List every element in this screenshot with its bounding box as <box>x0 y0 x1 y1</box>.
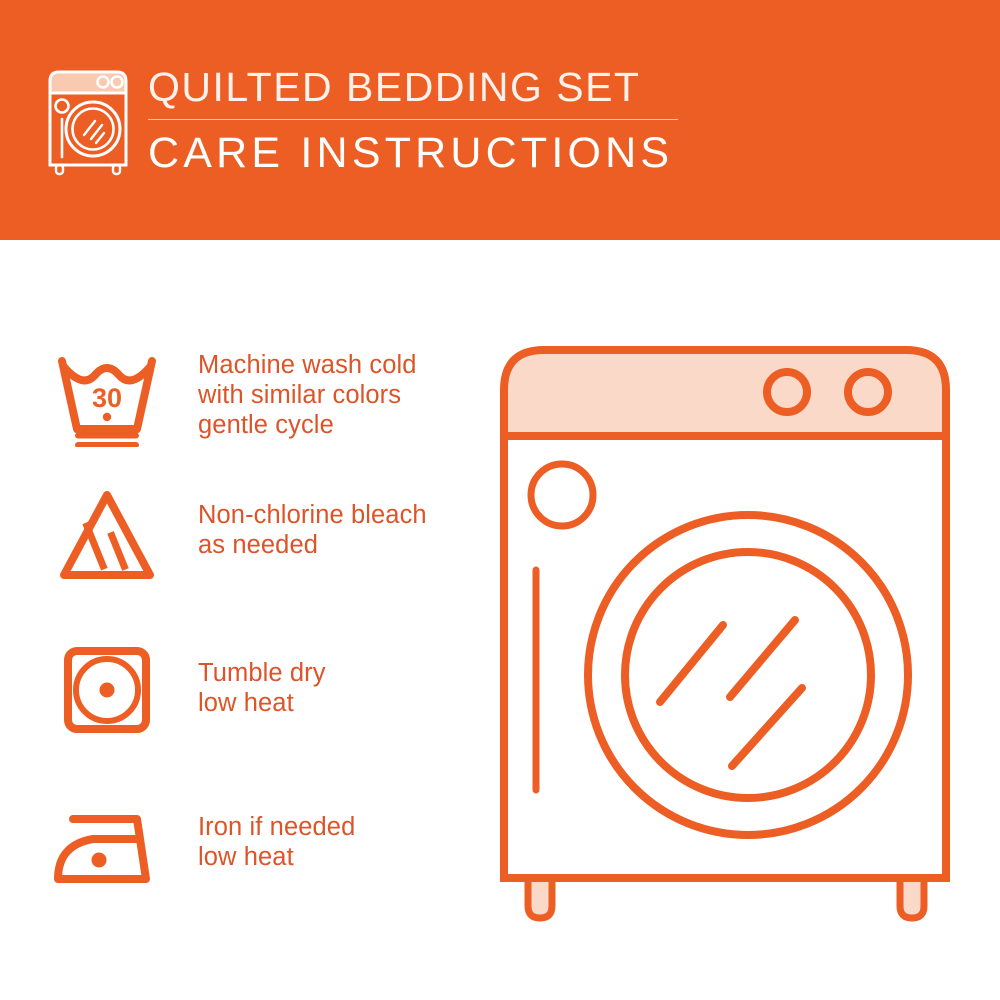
care-row: Tumble dry low heat <box>48 638 326 748</box>
page-subtitle: CARE INSTRUCTIONS <box>148 129 678 177</box>
care-instruction-list: 30 Machine wash cold with similar colors… <box>0 240 480 1000</box>
header-content: QUILTED BEDDING SET CARE INSTRUCTIONS <box>42 62 678 177</box>
care-row: Non-chlorine bleach as needed <box>48 480 427 590</box>
care-row-label: Non-chlorine bleach as needed <box>166 480 427 560</box>
header-title-group: QUILTED BEDDING SET CARE INSTRUCTIONS <box>148 62 678 177</box>
wash-temperature-value: 30 <box>92 383 122 413</box>
care-row-label: Iron if needed low heat <box>166 792 355 872</box>
iron-icon <box>48 792 166 902</box>
tumble-dry-square-icon <box>48 638 166 748</box>
care-row-label: Machine wash cold with similar colors ge… <box>166 342 417 440</box>
machine-control-panel <box>504 350 946 436</box>
front-loading-washing-machine-illustration <box>490 320 990 950</box>
machine-wash-tub-icon: 30 <box>48 342 166 452</box>
care-row: Iron if needed low heat <box>48 792 355 902</box>
care-instructions-infographic: QUILTED BEDDING SET CARE INSTRUCTIONS 30 <box>0 0 1000 1000</box>
header-banner: QUILTED BEDDING SET CARE INSTRUCTIONS <box>0 0 1000 240</box>
care-row-label: Tumble dry low heat <box>166 638 326 718</box>
title-divider <box>148 119 678 120</box>
non-chlorine-bleach-triangle-icon <box>48 480 166 590</box>
washing-machine-icon <box>42 67 134 177</box>
machine-body <box>504 436 946 878</box>
care-row: 30 Machine wash cold with similar colors… <box>48 342 417 452</box>
page-title: QUILTED BEDDING SET <box>148 64 678 110</box>
